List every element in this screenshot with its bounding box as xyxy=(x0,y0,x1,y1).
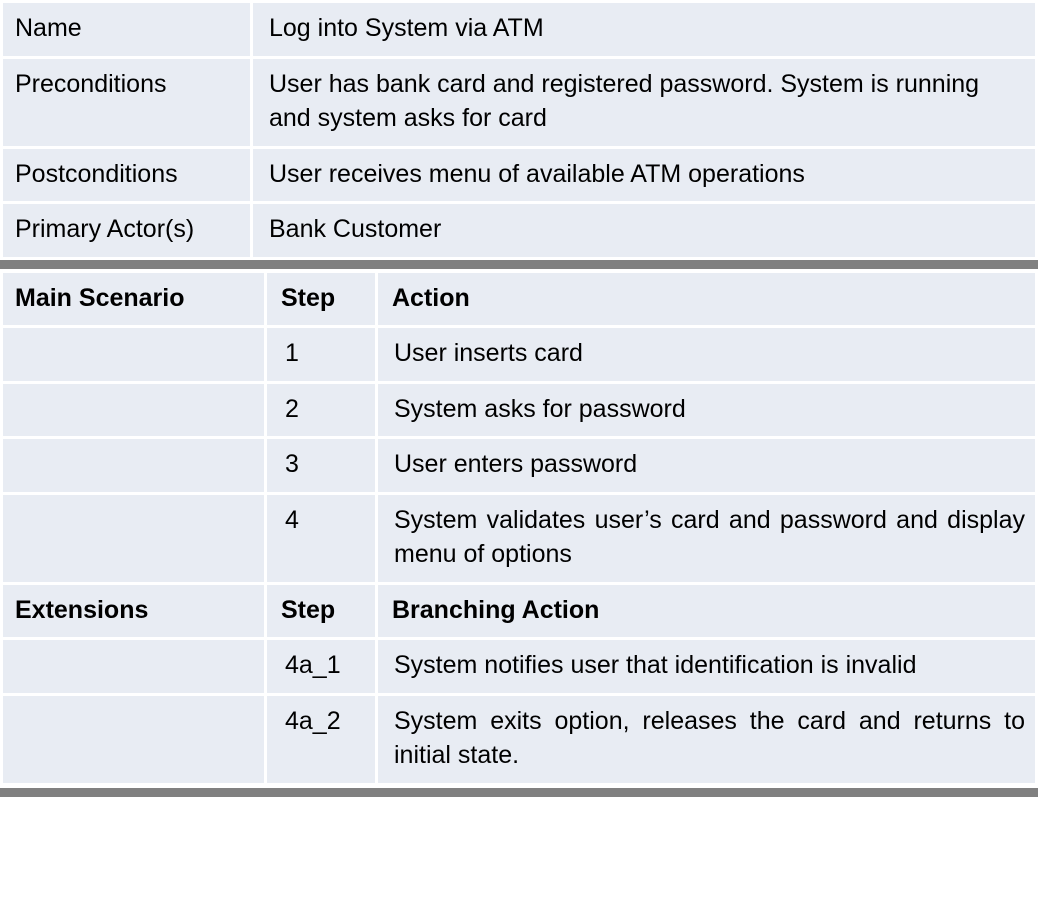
extensions-blank-cell xyxy=(3,640,264,693)
scenario-table-body: Main Scenario Step Action 1 User inserts… xyxy=(3,273,1035,783)
section-separator-bar-bottom xyxy=(0,788,1038,797)
main-scenario-action-header: Action xyxy=(378,273,1035,326)
section-separator-bar-top xyxy=(0,260,1038,269)
summary-value-preconditions: User has bank card and registered passwo… xyxy=(253,59,1035,146)
extensions-step-action: System exits option, releases the card a… xyxy=(378,696,1035,783)
extensions-step-number: 4a_2 xyxy=(267,696,375,783)
table-row: Postconditions User receives menu of ava… xyxy=(3,149,1035,202)
main-scenario-step-header: Step xyxy=(267,273,375,326)
summary-label-primary-actor: Primary Actor(s) xyxy=(3,204,250,257)
main-scenario-blank-cell xyxy=(3,328,264,381)
summary-table-body: Name Log into System via ATM Preconditio… xyxy=(3,3,1035,257)
main-scenario-blank-cell xyxy=(3,495,264,582)
table-row: Primary Actor(s) Bank Customer xyxy=(3,204,1035,257)
table-row: Preconditions User has bank card and reg… xyxy=(3,59,1035,146)
table-row-header-main-scenario: Main Scenario Step Action xyxy=(3,273,1035,326)
summary-label-preconditions: Preconditions xyxy=(3,59,250,146)
main-scenario-step-action: User inserts card xyxy=(378,328,1035,381)
use-case-specification-sheet: Name Log into System via ATM Preconditio… xyxy=(0,0,1038,911)
table-row: 4a_2 System exits option, releases the c… xyxy=(3,696,1035,783)
table-row: 4 System validates user’s card and passw… xyxy=(3,495,1035,582)
extensions-blank-cell xyxy=(3,696,264,783)
main-scenario-section-label: Main Scenario xyxy=(3,273,264,326)
use-case-scenario-table: Main Scenario Step Action 1 User inserts… xyxy=(0,270,1038,786)
main-scenario-step-action: System validates user’s card and passwor… xyxy=(378,495,1035,582)
use-case-summary-table: Name Log into System via ATM Preconditio… xyxy=(0,0,1038,260)
main-scenario-blank-cell xyxy=(3,384,264,437)
summary-value-primary-actor: Bank Customer xyxy=(253,204,1035,257)
summary-value-name: Log into System via ATM xyxy=(253,3,1035,56)
summary-label-postconditions: Postconditions xyxy=(3,149,250,202)
extensions-step-number: 4a_1 xyxy=(267,640,375,693)
table-row: 1 User inserts card xyxy=(3,328,1035,381)
extensions-action-header: Branching Action xyxy=(378,585,1035,638)
extensions-step-header: Step xyxy=(267,585,375,638)
main-scenario-step-number: 4 xyxy=(267,495,375,582)
table-row: 4a_1 System notifies user that identific… xyxy=(3,640,1035,693)
main-scenario-step-action: User enters password xyxy=(378,439,1035,492)
main-scenario-step-number: 2 xyxy=(267,384,375,437)
table-row-header-extensions: Extensions Step Branching Action xyxy=(3,585,1035,638)
main-scenario-step-number: 1 xyxy=(267,328,375,381)
main-scenario-blank-cell xyxy=(3,439,264,492)
table-row: Name Log into System via ATM xyxy=(3,3,1035,56)
extensions-step-action: System notifies user that identification… xyxy=(378,640,1035,693)
main-scenario-step-number: 3 xyxy=(267,439,375,492)
main-scenario-step-action: System asks for password xyxy=(378,384,1035,437)
table-row: 3 User enters password xyxy=(3,439,1035,492)
table-row: 2 System asks for password xyxy=(3,384,1035,437)
extensions-section-label: Extensions xyxy=(3,585,264,638)
summary-value-postconditions: User receives menu of available ATM oper… xyxy=(253,149,1035,202)
summary-label-name: Name xyxy=(3,3,250,56)
